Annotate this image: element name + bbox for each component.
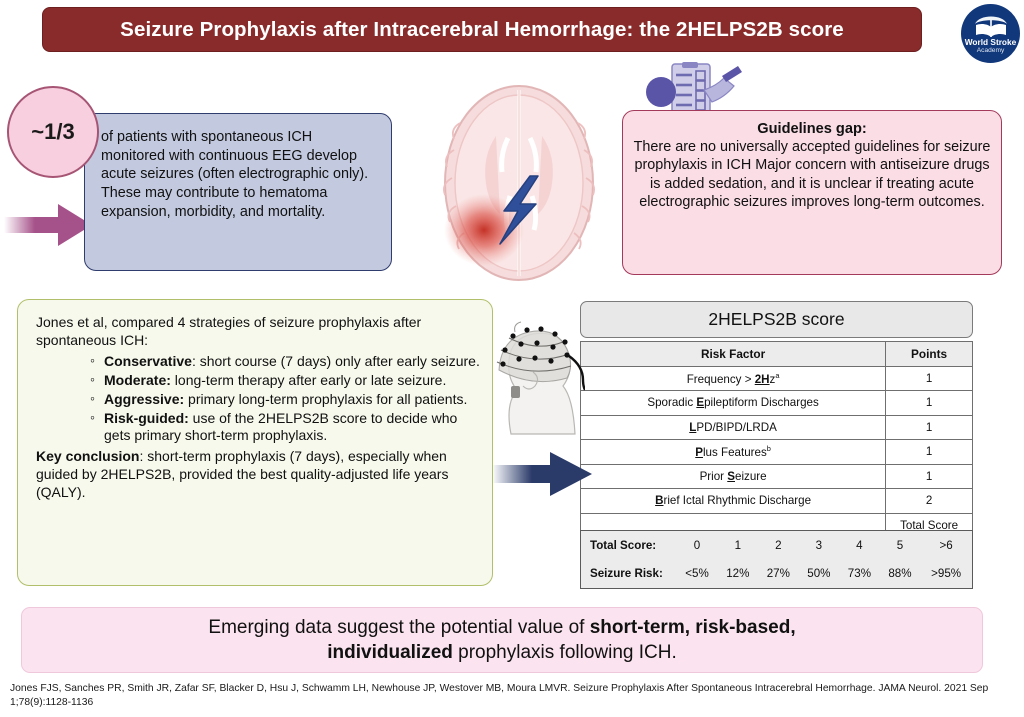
study-lead-text: Jones et al, compared 4 strategies of se… [36, 314, 480, 350]
guidelines-gap-body: There are no universally accepted guidel… [633, 138, 991, 211]
rf-post: pileptiform Discharges [704, 396, 819, 409]
rf-mnemonic: P [695, 446, 703, 459]
strategy-desc: primary long-term prophylaxis for all pa… [188, 391, 467, 407]
rf-mnemonic: E [696, 396, 704, 409]
citation-text: Jones FJS, Sanches PR, Smith JR, Zafar S… [10, 682, 1014, 710]
study-summary-box: Jones et al, compared 4 strategies of se… [17, 299, 493, 586]
list-item: Moderate: long-term therapy after early … [90, 372, 480, 390]
rf-pre: Sporadic [647, 396, 696, 409]
points-cell: 1 [886, 440, 973, 465]
strategy-desc: long-term therapy after early or late se… [175, 372, 447, 388]
strategy-name: Moderate: [104, 372, 171, 388]
banner-part-2: prophylaxis following ICH. [453, 642, 677, 663]
points-cell: 1 [886, 464, 973, 489]
risk-value: >95% [920, 560, 972, 589]
strategy-name: Risk-guided: [104, 410, 189, 426]
rf-post: eizure [735, 470, 767, 483]
total-score-label: Total Score: [581, 531, 677, 560]
seizure-risk-label: Seizure Risk: [581, 560, 677, 589]
table-row-risks: Seizure Risk: <5% 12% 27% 50% 73% 88% >9… [581, 560, 973, 589]
score-table-title-label: 2HELPS2B score [708, 309, 844, 330]
risk-factor-cell: Plus Featuresb [581, 440, 886, 465]
score-value: 0 [677, 531, 718, 560]
risk-value: 88% [880, 560, 921, 589]
guidelines-gap-box: Guidelines gap: There are no universally… [622, 110, 1002, 275]
banner-bold-2: individualized [327, 642, 453, 663]
risk-factor-cell: Prior Seizure [581, 464, 886, 489]
table-row: Plus Featuresb 1 [581, 440, 973, 465]
purple-arrow-icon [4, 202, 92, 248]
stat-callout-line-1: of patients with spontaneous ICH monitor… [101, 128, 379, 184]
strategy-name: Conservative [104, 353, 192, 369]
table-row: Sporadic Epileptiform Discharges 1 [581, 391, 973, 416]
risk-value: 50% [799, 560, 840, 589]
points-cell: 1 [886, 391, 973, 416]
guidelines-gap-heading: Guidelines gap: [757, 121, 866, 137]
key-conclusion-label: Key conclusion [36, 448, 139, 464]
points-cell: 1 [886, 415, 973, 440]
score-value: 3 [799, 531, 840, 560]
rf-pre: Prior [700, 470, 728, 483]
banner-bold-1: short-term, risk-based, [590, 617, 796, 638]
risk-value: 27% [758, 560, 799, 589]
table-row: Frequency > 2Hza 1 [581, 366, 973, 391]
score-value: >6 [920, 531, 972, 560]
eeg-cap-head-icon [481, 312, 585, 438]
risk-value: 73% [839, 560, 880, 589]
bottom-conclusion-text: Emerging data suggest the potential valu… [208, 615, 795, 665]
stat-callout-box: of patients with spontaneous ICH monitor… [84, 113, 392, 271]
risk-factor-cell: Frequency > 2Hza [581, 366, 886, 391]
column-header-risk-factor: Risk Factor [581, 342, 886, 367]
score-value: 1 [718, 531, 759, 560]
rf-post: lus Features [703, 446, 767, 459]
logo-line-2: Academy [977, 46, 1005, 56]
list-item: Conservative: short course (7 days) only… [90, 353, 480, 371]
table-row: Brief Ictal Rhythmic Discharge 2 [581, 489, 973, 514]
risk-factor-table: Risk Factor Points Frequency > 2Hza 1 Sp… [580, 341, 973, 538]
rf-mnemonic: 2H [755, 373, 770, 386]
table-header-row: Risk Factor Points [581, 342, 973, 367]
table-row-scores: Total Score: 0 1 2 3 4 5 >6 [581, 531, 973, 560]
points-cell: 2 [886, 489, 973, 514]
table-row: LPD/BIPD/LRDA 1 [581, 415, 973, 440]
rf-footnote: b [767, 444, 771, 453]
seizure-risk-table: Total Score: 0 1 2 3 4 5 >6 Seizure Risk… [580, 530, 973, 589]
infographic-root: Seizure Prophylaxis after Intracerebral … [0, 0, 1024, 717]
table-row: Prior Seizure 1 [581, 464, 973, 489]
key-conclusion: Key conclusion: short-term prophylaxis (… [36, 448, 480, 502]
brain-axial-illustration [412, 78, 626, 288]
strategy-sep: : [192, 353, 200, 369]
risk-factor-cell: LPD/BIPD/LRDA [581, 415, 886, 440]
score-value: 5 [880, 531, 921, 560]
one-third-badge-label: ~1/3 [31, 119, 74, 145]
score-value: 2 [758, 531, 799, 560]
risk-factor-cell: Sporadic Epileptiform Discharges [581, 391, 886, 416]
list-item: Aggressive: primary long-term prophylaxi… [90, 391, 480, 409]
strategy-name: Aggressive: [104, 391, 184, 407]
one-third-badge: ~1/3 [7, 86, 99, 178]
page-title: Seizure Prophylaxis after Intracerebral … [120, 18, 844, 42]
rf-mnemonic: S [727, 470, 735, 483]
list-item: Risk-guided: use of the 2HELPS2B score t… [90, 410, 480, 446]
banner-part-1: Emerging data suggest the potential valu… [208, 617, 589, 638]
page-title-bar: Seizure Prophylaxis after Intracerebral … [42, 7, 922, 52]
score-table-title: 2HELPS2B score [580, 301, 973, 338]
bottom-conclusion-banner: Emerging data suggest the potential valu… [21, 607, 983, 673]
column-header-points: Points [886, 342, 973, 367]
points-cell: 1 [886, 366, 973, 391]
risk-value: <5% [677, 560, 718, 589]
world-stroke-academy-logo: World Stroke Academy [961, 4, 1020, 63]
rf-pre: Frequency > [687, 373, 755, 386]
book-logo-icon [973, 10, 1009, 40]
strategy-desc: short course (7 days) only after early s… [200, 353, 480, 369]
rf-footnote: a [775, 371, 779, 380]
navy-arrow-icon [492, 449, 592, 499]
rf-post: PD/BIPD/LRDA [696, 421, 777, 434]
strategy-list: Conservative: short course (7 days) only… [36, 353, 480, 446]
risk-value: 12% [718, 560, 759, 589]
stat-callout-line-2: These may contribute to hematoma expansi… [101, 184, 379, 221]
rf-post: rief Ictal Rhythmic Discharge [663, 494, 811, 507]
risk-factor-cell: Brief Ictal Rhythmic Discharge [581, 489, 886, 514]
score-value: 4 [839, 531, 880, 560]
